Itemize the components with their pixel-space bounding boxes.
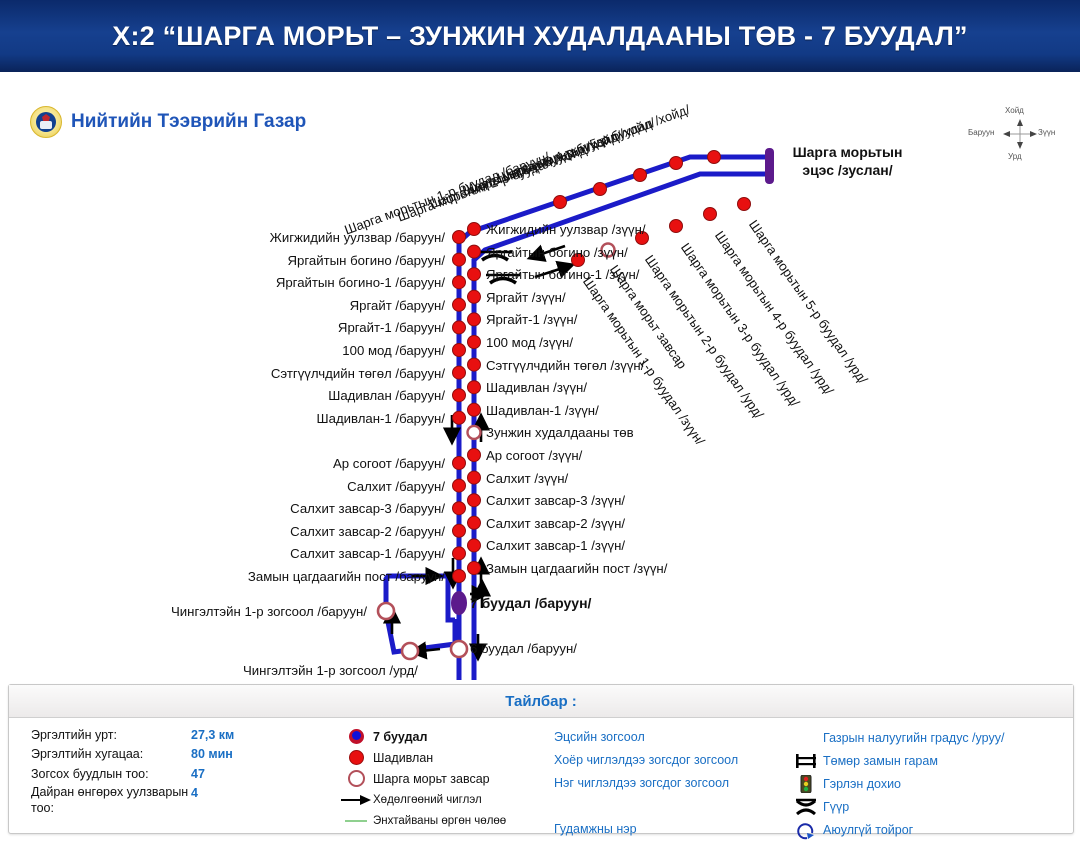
stat-value: 4 <box>191 784 198 817</box>
left-stop-label: Яргайтын богино-1 /баруун/ <box>0 276 445 289</box>
legend-symbol-label: 7 буудал <box>373 730 427 744</box>
right-stop-label: Шадивлан /зүүн/ <box>486 381 587 394</box>
legend-icon-label: Гүүр <box>823 800 849 814</box>
stat-row: Дайран өнгөрөх уулзварын тоо: 4 <box>31 784 331 817</box>
terminal-marker <box>765 148 774 184</box>
left-stop-label: Жигжидийн уулзвар /баруун/ <box>0 231 445 244</box>
legend-header: Тайлбар : <box>9 685 1073 718</box>
terminal-label: Шарга морьтын эцэс /зуслан/ <box>780 144 915 179</box>
right-stop-label: Замын цагдаагийн пост /зүүн/ <box>486 562 667 575</box>
left-stop-label: Сэтгүүлчдийн төгөл /баруун/ <box>0 367 445 380</box>
terminal-stop-dot-icon <box>339 729 373 744</box>
legend-icons-column: Газрын налуугийн градус /уруу/ Төмөр зам… <box>789 726 1069 841</box>
right-stop-label: Салхит /зүүн/ <box>486 472 568 485</box>
right-stop-label: Жигжидийн уулзвар /зүүн/ <box>486 223 646 236</box>
stop-dot <box>468 494 481 507</box>
right-stop-label: Яргайт /зүүн/ <box>486 291 566 304</box>
loop-label-stop6: 6 буудал /баруун/ <box>470 642 577 655</box>
stop-dot <box>453 524 466 537</box>
legend-icon-row: Газрын налуугийн градус /уруу/ <box>789 726 1069 749</box>
route-map: Нийтийн Тээврийн Газар Хойд Урд Баруун З… <box>0 74 1080 680</box>
legend-symbol-label: Шадивлан <box>373 751 433 765</box>
legend-symbol-row: Энхтайваны өргөн чөлөө <box>339 810 569 831</box>
legend-blue-label: Нэг чиглэлдээ зогсдог зогсоол <box>554 772 804 795</box>
left-stop-label: Салхит /баруун/ <box>0 480 445 493</box>
right-stop-label: Ар согоот /зүүн/ <box>486 449 582 462</box>
stop-dot <box>468 336 481 349</box>
stat-value: 47 <box>191 765 205 784</box>
legend-symbol-row: Шарга морьт завсар <box>339 768 569 789</box>
left-stop-label: Шадивлан-1 /баруун/ <box>0 412 445 425</box>
safety-roundabout-icon <box>789 820 823 840</box>
left-stop-label: Яргайт /баруун/ <box>0 299 445 312</box>
legend-symbol-row: Шадивлан <box>339 747 569 768</box>
legend-symbols-column: 7 буудал Шадивлан Шарга морьт завсар Хөд… <box>339 726 569 831</box>
legend-blue-label: Эцсийн зогсоол <box>554 726 804 749</box>
stat-row: Эргэлтийн хугацаа: 80 мин <box>31 745 331 764</box>
stat-value: 27,3 км <box>191 726 234 745</box>
red-stop-dot-icon <box>339 750 373 765</box>
stat-label: Эргэлтийн хугацаа: <box>31 745 191 764</box>
legend-title: Тайлбар : <box>505 693 577 710</box>
legend-icon-row: Төмөр замын гарам <box>789 749 1069 772</box>
right-stop-label: Яргайтын богино /зүүн/ <box>486 246 628 259</box>
stop-dot <box>468 403 481 416</box>
left-stop-label: 100 мод /баруун/ <box>0 344 445 357</box>
left-stop-label: Салхит завсар-1 /баруун/ <box>0 547 445 560</box>
page-header: X:2 “ШАРГА МОРЬТ – ЗУНЖИН ХУДАЛДААНЫ ТӨВ… <box>0 0 1080 74</box>
stat-row: Эргэлтийн урт: 27,3 км <box>31 726 331 745</box>
stop-dot <box>468 562 481 575</box>
legend-panel: Тайлбар : Эргэлтийн урт: 27,3 км Эргэлти… <box>8 684 1074 834</box>
stop-dot <box>453 457 466 470</box>
legend-stats-column: Эргэлтийн урт: 27,3 км Эргэлтийн хугацаа… <box>31 726 331 817</box>
right-stop-label: Салхит завсар-3 /зүүн/ <box>486 494 625 507</box>
stop-dot <box>468 381 481 394</box>
right-stop-label: Зунжин худалдааны төв <box>486 426 634 439</box>
legend-blue-spacer <box>554 795 804 818</box>
right-stop-label: Сэтгүүлчдийн төгөл /зүүн/ <box>486 359 644 372</box>
stop-dot <box>468 471 481 484</box>
right-stop-label: Салхит завсар-1 /зүүн/ <box>486 539 625 552</box>
legend-symbol-row: 7 буудал <box>339 726 569 747</box>
legend-blue-label: Хоёр чиглэлдээ зогсдог зогсоол <box>554 749 804 772</box>
legend-symbol-label: Шарга морьт завсар <box>373 772 490 786</box>
stop-dot <box>468 290 481 303</box>
left-stop-label: Ар согоот /баруун/ <box>0 457 445 470</box>
stop-dot <box>453 276 466 289</box>
legend-icon-label: Аюулгүй тойрог <box>823 823 913 837</box>
traffic-light-icon <box>789 775 823 793</box>
stop-dot <box>468 223 481 236</box>
stop-dot <box>468 449 481 462</box>
legend-blue-labels-column: Эцсийн зогсоол Хоёр чиглэлдээ зогсдог зо… <box>554 726 804 841</box>
right-stop-label: Яргайт-1 /зүүн/ <box>486 313 577 326</box>
stop-dot <box>453 570 466 583</box>
stat-row: Зогсох буудлын тоо: 47 <box>31 765 331 784</box>
stat-label: Эргэлтийн урт: <box>31 726 191 745</box>
left-stop-label: Шадивлан /баруун/ <box>0 389 445 402</box>
legend-icon-row: Аюулгүй тойрог <box>789 818 1069 841</box>
stop-dot <box>468 358 481 371</box>
stop-dot <box>468 245 481 258</box>
right-stop-label: Шадивлан-1 /зүүн/ <box>486 404 599 417</box>
stat-value: 80 мин <box>191 745 233 764</box>
stop-dot <box>453 231 466 244</box>
stop-dot <box>453 502 466 515</box>
legend-icon-label: Төмөр замын гарам <box>823 754 938 768</box>
open-stop-dot-icon <box>339 770 373 787</box>
stop-dot <box>468 539 481 552</box>
legend-icon-row: Гэрлэн дохио <box>789 772 1069 795</box>
stat-label: Зогсох буудлын тоо: <box>31 765 191 784</box>
stop-dot <box>453 479 466 492</box>
stop-dot <box>453 344 466 357</box>
page-title: X:2 “ШАРГА МОРЬТ – ЗУНЖИН ХУДАЛДААНЫ ТӨВ… <box>112 21 967 52</box>
loop-label-chingeltei-west: Чингэлтэйн 1-р зогсоол /баруун/ <box>171 605 367 618</box>
stop-dot <box>453 253 466 266</box>
stop-dot <box>453 389 466 402</box>
left-stop-label: Салхит завсар-3 /баруун/ <box>0 502 445 515</box>
stop-dot <box>453 547 466 560</box>
left-stop-label: Яргайтын богино /баруун/ <box>0 254 445 267</box>
railway-crossing-icon <box>789 753 823 769</box>
direction-arrow-icon <box>339 795 373 805</box>
legend-body: Эргэлтийн урт: 27,3 км Эргэлтийн хугацаа… <box>9 718 1073 832</box>
legend-symbol-label: Энхтайваны өргөн чөлөө <box>373 815 506 827</box>
green-line-icon <box>339 820 373 822</box>
stop-dot <box>468 268 481 281</box>
stop-dot <box>453 298 466 311</box>
legend-icon-label: Гэрлэн дохио <box>823 777 901 791</box>
legend-icon-label: Газрын налуугийн градус /уруу/ <box>823 731 1004 745</box>
left-stop-label: Яргайт-1 /баруун/ <box>0 321 445 334</box>
loop-label-chingeltei-south: Чингэлтэйн 1-р зогсоол /урд/ <box>243 664 418 677</box>
right-stop-label: 100 мод /зүүн/ <box>486 336 573 349</box>
stop-dot <box>468 313 481 326</box>
bridge-icon <box>789 797 823 817</box>
stop-dot <box>453 366 466 379</box>
right-stop-label: Яргайтын богино-1 /зүүн/ <box>486 268 639 281</box>
legend-blue-label: Гудамжны нэр <box>554 818 804 841</box>
legend-icon-row: Гүүр <box>789 795 1069 818</box>
loop-label-stop7: 7 буудал /баруун/ <box>470 596 591 610</box>
left-stop-label: Замын цагдаагийн пост /баруун/ <box>0 570 445 583</box>
stop-dot <box>468 426 481 439</box>
stop-dot <box>453 321 466 334</box>
legend-symbol-label: Хөдөлгөөний чиглэл <box>373 794 482 806</box>
stat-label: Дайран өнгөрөх уулзварын тоо: <box>31 784 191 817</box>
left-stop-label: Салхит завсар-2 /баруун/ <box>0 525 445 538</box>
stop-dot <box>453 411 466 424</box>
right-stop-label: Салхит завсар-2 /зүүн/ <box>486 517 625 530</box>
legend-symbol-row: Хөдөлгөөний чиглэл <box>339 789 569 810</box>
stop-dot <box>468 516 481 529</box>
